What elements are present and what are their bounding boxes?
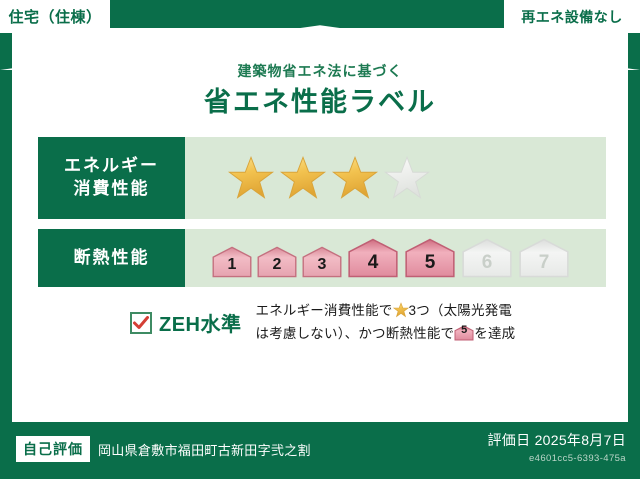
zeh-desc-line2-b: を達成 [474, 326, 515, 341]
page-title: 省エネ性能ラベル [12, 80, 628, 119]
energy-key-line2: 消費性能 [74, 178, 150, 201]
insulation-level-6: 6 [460, 238, 514, 278]
insulation-level-2: 2 [256, 246, 298, 278]
evaluation-date: 評価日 2025年8月7日 [487, 430, 626, 450]
energy-performance-row: エネルギー 消費性能 [38, 137, 606, 219]
insulation-level-5-value: 5 [403, 253, 457, 272]
insulation-key-line1: 断熱性能 [74, 247, 150, 270]
check-icon [133, 316, 149, 330]
energy-performance-key: エネルギー 消費性能 [38, 137, 185, 219]
zeh-desc-line1-a: エネルギー消費性能で [256, 303, 393, 318]
label-id: e4601cc5-6393-475a [487, 453, 626, 464]
star-icon-filled-3 [331, 154, 379, 202]
label-footer: 自己評価 岡山県倉敷市福田町古新田字弐之割 評価日 2025年8月7日 e460… [0, 422, 640, 479]
insulation-level-scale: 1 2 3 [211, 238, 571, 278]
insulation-level-2-value: 2 [256, 257, 298, 273]
inline-insulation-badge: 5 [454, 325, 474, 341]
zeh-badge: ZEH水準 [130, 300, 242, 337]
insulation-level-4: 4 [346, 238, 400, 278]
insulation-performance-value: 1 2 3 [185, 229, 606, 287]
star-icon-filled-2 [279, 154, 327, 202]
checkbox-checked[interactable] [130, 312, 152, 334]
label-card: 建築物省エネ法に基づく 省エネ性能ラベル エネルギー 消費性能 [12, 28, 628, 422]
footer-left-group: 自己評価 岡山県倉敷市福田町古新田字弐之割 [16, 436, 311, 462]
title-subtitle: 建築物省エネ法に基づく [12, 61, 628, 81]
energy-performance-label: 住宅（住棟） 再エネ設備なし 建築物省エネ法に基づく 省エネ性能ラベル エネルギ… [0, 0, 640, 479]
insulation-level-6-value: 6 [460, 253, 514, 272]
insulation-level-4-value: 4 [346, 253, 400, 272]
insulation-level-3-value: 3 [301, 257, 343, 273]
insulation-performance-row: 断熱性能 [38, 229, 606, 287]
energy-key-line1: エネルギー [64, 155, 159, 178]
insulation-level-3: 3 [301, 246, 343, 278]
insulation-level-5: 5 [403, 238, 457, 278]
zeh-desc-line2-a: は考慮しない）、かつ断熱性能で [256, 326, 455, 341]
zeh-description: エネルギー消費性能で 3つ（太陽光発電 は考慮しない）、かつ断熱性能で 5 を達… [256, 300, 611, 345]
self-evaluation-badge: 自己評価 [16, 436, 90, 462]
zeh-label: ZEH水準 [159, 308, 242, 337]
insulation-level-1: 1 [211, 246, 253, 278]
energy-performance-value [185, 137, 606, 219]
footer-right-group: 評価日 2025年8月7日 e4601cc5-6393-475a [487, 430, 626, 464]
zeh-section: ZEH水準 エネルギー消費性能で 3つ（太陽光発電 は考慮しない）、かつ断熱性能… [130, 300, 610, 345]
star-rating [227, 154, 431, 202]
inline-star-icon [393, 302, 409, 318]
insulation-level-7-value: 7 [517, 253, 571, 272]
star-icon-filled-1 [227, 154, 275, 202]
inline-badge-value: 5 [454, 321, 474, 339]
insulation-level-7: 7 [517, 238, 571, 278]
star-icon-empty-4 [383, 154, 431, 202]
property-address: 岡山県倉敷市福田町古新田字弐之割 [98, 440, 311, 459]
insulation-performance-key: 断熱性能 [38, 229, 185, 287]
insulation-level-1-value: 1 [211, 257, 253, 273]
zeh-desc-line1-b: 3つ（太陽光発電 [409, 303, 513, 318]
